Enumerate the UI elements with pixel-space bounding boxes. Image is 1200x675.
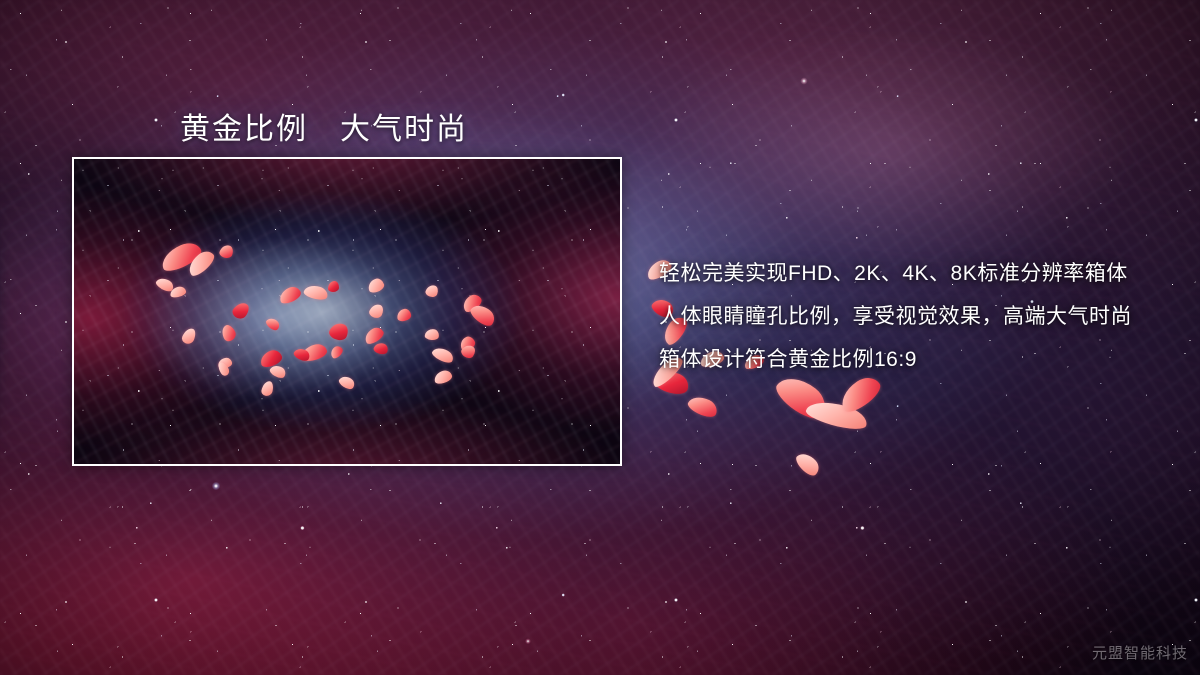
nebula-image-frame: [72, 157, 622, 466]
frame-starfield: [74, 159, 620, 464]
flower-petal: [328, 281, 339, 292]
presentation-slide: 黄金比例 大气时尚 轻松完美实现FHD、2K、4K、8K标准分辨率箱体 人体眼睛…: [0, 0, 1200, 675]
slide-body-text: 轻松完美实现FHD、2K、4K、8K标准分辨率箱体 人体眼睛瞳孔比例，享受视觉效…: [659, 252, 1159, 381]
company-watermark: 元盟智能科技: [1092, 642, 1188, 663]
body-line-1: 轻松完美实现FHD、2K、4K、8K标准分辨率箱体: [659, 252, 1159, 295]
flower-petal: [793, 449, 822, 479]
frame-image-content: [74, 159, 620, 464]
flower-petal: [686, 392, 720, 420]
body-line-2: 人体眼睛瞳孔比例，享受视觉效果，高端大气时尚: [659, 295, 1159, 338]
slide-title: 黄金比例 大气时尚: [180, 104, 468, 148]
body-line-3: 箱体设计符合黄金比例16:9: [659, 338, 1159, 381]
